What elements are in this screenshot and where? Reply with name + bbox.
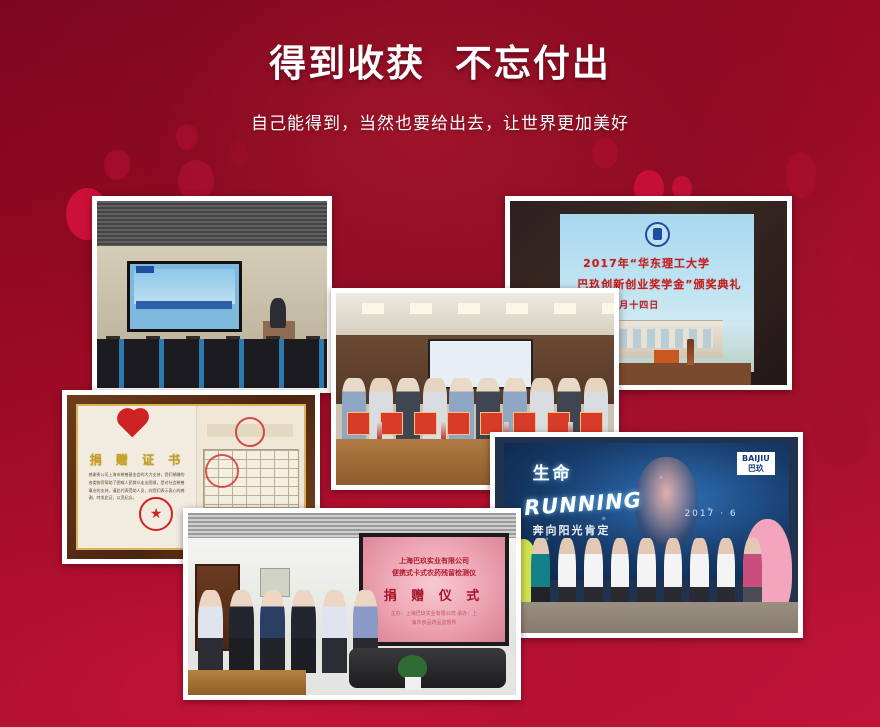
speaker-person <box>270 298 286 328</box>
ceiling <box>97 201 327 246</box>
ceremony-slide-line3: 捐 赠 仪 式 <box>371 585 497 604</box>
running-event-image: 生命 RUNNING 奔向阳光肯定 2017 · 6 BAIJIU 巴玖 <box>495 437 798 633</box>
meeting-table <box>188 670 306 695</box>
ceremony-slide-line4: 主办：上海巴玖实业有限公司 承办：上海市食品药品监督所 <box>388 610 479 627</box>
promo-banner: 得到收获 不忘付出 自己能得到，当然也要给出去，让世界更加美好 2017年“华东… <box>0 0 880 727</box>
university-crest-icon <box>645 222 670 247</box>
water-bottle <box>377 422 382 439</box>
ceremony-slide-line2: 便携式卡式农药残留检测仪 <box>371 568 497 578</box>
ceremony-slide-line1: 上海巴玖实业有限公司 <box>371 556 497 566</box>
slide-title-band <box>136 301 232 309</box>
heart-logo-icon <box>119 410 146 437</box>
bokeh-circle <box>592 138 618 168</box>
page-title: 得到收获 不忘付出 <box>0 44 880 85</box>
certificate-title: 捐 赠 证 书 <box>90 451 186 468</box>
banner-date: 2017 · 6 <box>684 509 737 519</box>
bokeh-circle <box>104 150 130 180</box>
audience-seats <box>97 339 327 388</box>
attendee <box>322 590 347 673</box>
plaza-ground <box>495 602 798 633</box>
photo-card-running-event[interactable]: 生命 RUNNING 奔向阳光肯定 2017 · 6 BAIJIU 巴玖 <box>490 432 803 638</box>
certificate-body-text: 感谢贵公司上海市慈善基金会的大力支持，您们捐赠的各类物资帮助了困难人民群众走出困… <box>89 471 187 501</box>
bokeh-circle <box>786 152 816 198</box>
bokeh-circle <box>820 238 854 278</box>
page-subtitle: 自己能得到，当然也要给出去，让世界更加美好 <box>0 109 880 134</box>
photo-card-donation-ceremony[interactable]: 上海巴玖实业有限公司 便携式卡式农药残留检测仪 捐 赠 仪 式 主办：上海巴玖实… <box>183 508 521 700</box>
certificate-page: 捐 赠 证 书 感谢贵公司上海市慈善基金会的大力支持，您们捐赠的各类物资帮助了困… <box>78 406 196 548</box>
lecture-hall-image <box>97 201 327 388</box>
brand-logo: BAIJIU 巴玖 <box>737 452 775 474</box>
slide-logo-icon <box>136 266 153 273</box>
donation-ceremony-image: 上海巴玖实业有限公司 便携式卡式农药残留检测仪 捐 赠 仪 式 主办：上海巴玖实… <box>188 513 516 695</box>
ceremony-projection: 上海巴玖实业有限公司 便携式卡式农药残留检测仪 捐 赠 仪 式 主办：上海巴玖实… <box>359 533 510 646</box>
flower-pot <box>405 677 421 689</box>
bottle-right <box>687 339 694 365</box>
projector-screen <box>127 261 242 332</box>
bokeh-circle <box>228 142 248 166</box>
photo-card-lecture-hall[interactable] <box>92 196 332 393</box>
attendee <box>291 590 316 673</box>
receipt-seal-icon <box>235 417 265 447</box>
attendee <box>229 590 254 673</box>
slide-image <box>134 269 234 304</box>
official-seal-icon: ★ <box>139 497 173 531</box>
bokeh-circle <box>812 400 870 468</box>
banner-title-cn: 生命 <box>533 459 573 484</box>
name-placard <box>654 350 679 363</box>
brand-line-en: BAIJIU <box>742 454 770 463</box>
water-bottle <box>441 422 446 439</box>
ceiling-lights <box>336 303 614 315</box>
ceiling <box>336 293 614 335</box>
brand-line-cn: 巴玖 <box>742 464 770 473</box>
ceremony-slide-line1: 2017年“华东理工大学 <box>583 255 710 271</box>
plant-leaves <box>398 655 427 680</box>
potted-plant <box>395 653 431 689</box>
attendee <box>198 590 223 673</box>
attendee <box>260 590 285 673</box>
header-block: 得到收获 不忘付出 自己能得到，当然也要给出去，让世界更加美好 <box>0 44 880 134</box>
